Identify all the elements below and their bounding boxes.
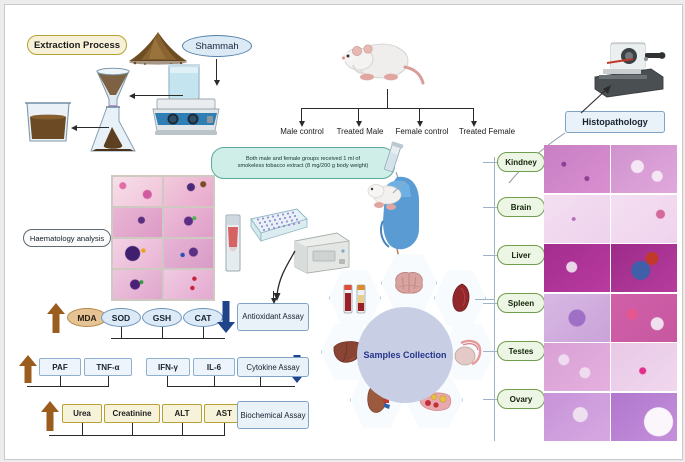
histology-tile-testes-a [544,343,610,391]
arrow-up-cytokines [19,355,37,383]
organ-tick-brain [483,207,497,208]
marker-urea: Urea [62,404,102,423]
organ-tick-spleen [483,303,497,304]
blood-smear-tile [164,208,213,237]
marker-alt: ALT [162,404,202,423]
dosing-callout-line2: smokeless tobacco extract (8 mg/200 g bo… [238,163,369,170]
biochemical-bus-line [49,435,225,436]
spleen-icon [446,281,474,315]
laboratory-rat-icon [335,33,425,89]
blood-smear-tile [113,208,162,237]
tick-tnf [108,376,109,386]
organ-label-kindney: Kindney [497,152,545,172]
organ-tick-testes [483,351,497,352]
figure-panel: Extraction Process Shammah [4,4,683,460]
arrow-up-mda [47,303,65,333]
histology-tile-ovary-a [544,393,610,441]
assay-cytokine: Cytokine Assay [237,357,309,377]
tick-sod [121,327,122,338]
testes-icon [451,337,485,367]
blood-tubes-icon [340,281,370,315]
tick-il10 [260,376,261,386]
blood-smear-tile [164,270,213,299]
assay-antioxidant: Antioxidant Assay [237,303,309,331]
marker-gsh: GSH [142,308,182,327]
magnetic-stirrer-icon [145,61,227,139]
arrow-down-antioxidants [217,301,235,333]
samples-collection-circle: Samples Collection [357,307,453,403]
samples-collection-label: Samples Collection [363,350,446,360]
figure-root: Extraction Process Shammah [0,0,685,462]
histology-tile-spleen-a [544,294,610,342]
dosing-callout-line1: Both male and female groups received 1 m… [246,156,360,163]
group-label-treated-male: Treated Male [329,125,391,137]
organ-label-spleen: Spleen [497,293,545,313]
tick-alt [182,423,183,435]
brain-icon [390,269,428,297]
organ-tick-ovary [483,399,497,400]
group-label-male-control: Male control [271,125,333,137]
histology-tile-liver-b [611,244,677,292]
hexagon-spleen [434,269,486,327]
beaker-icon [21,99,75,145]
group-label-female-control: Female control [389,125,455,137]
histology-tile-brain-b [611,195,677,243]
tick-gsh [162,327,163,338]
blood-sample-tube-icon [224,213,242,273]
organ-label-brain: Brain [497,197,545,217]
histology-tile-brain-a [544,195,610,243]
histology-tile-ovary-b [611,393,677,441]
gloved-hand-injecting-rat-icon [363,163,433,263]
blood-smear-tile [113,270,162,299]
arrow-plate-to-antioxidant [261,249,301,305]
tick-ast [224,423,225,435]
tick-paf [60,376,61,386]
organ-label-testes: Testes [497,341,545,361]
arrow-to-microtome [577,83,619,115]
arrow-beaker-to-funnel [135,95,183,96]
branch-treated-female [473,108,474,122]
rat-trunk-line [387,89,388,109]
histology-tile-liver-a [544,244,610,292]
plate-reader-icon [293,229,351,275]
tick-il6 [214,376,215,386]
marker-paf: PAF [39,358,81,376]
marker-il-6: IL-6 [193,358,235,376]
arrow-up-biochemical [41,401,59,431]
extraction-process-label: Extraction Process [27,35,127,55]
histopathology-grid [544,145,677,441]
organ-tick-kindney [483,162,497,163]
organ-rail-feed [475,299,495,300]
marker-creatinine: Creatinine [104,404,160,423]
assay-biochemical: Biochemical Assay [237,401,309,429]
erlenmeyer-flask-icon [81,105,145,155]
arrow-flask-to-beaker [77,127,109,128]
histology-tile-spleen-b [611,294,677,342]
tick-creatinine [132,423,133,435]
tick-urea [82,423,83,435]
haematology-analysis-label: Haematology analysis [23,229,111,247]
blood-smear-tile [113,177,162,206]
blood-smear-tile [164,177,213,206]
marker-tnf-alpha: TNF-α [84,358,132,376]
organ-label-liver: Liver [497,245,545,265]
cytokine-bus-line-left [27,386,109,387]
branch-male-control [301,108,302,122]
histology-tile-kidney-a [544,145,610,193]
marker-sod: SOD [101,308,141,327]
blood-smear-tile [164,239,213,268]
antioxidant-bus-line [111,338,225,339]
organ-label-ovary: Ovary [497,389,545,409]
marker-ifn-gamma: IFN-γ [146,358,190,376]
shammah-label: Shammah [182,35,252,57]
arrow-into-antioxidant [273,291,274,299]
tick-ifn [167,376,168,386]
branch-treated-male [358,108,359,122]
haematology-panel-grid [111,175,215,301]
organ-tick-liver [483,255,497,256]
groups-bus-line [301,108,473,109]
branch-female-control [419,108,420,122]
blood-smear-tile [113,239,162,268]
histology-tile-kidney-b [611,145,677,193]
tick-cat [203,327,204,338]
cytokine-bus-line-right [167,386,295,387]
histology-tile-testes-b [611,343,677,391]
